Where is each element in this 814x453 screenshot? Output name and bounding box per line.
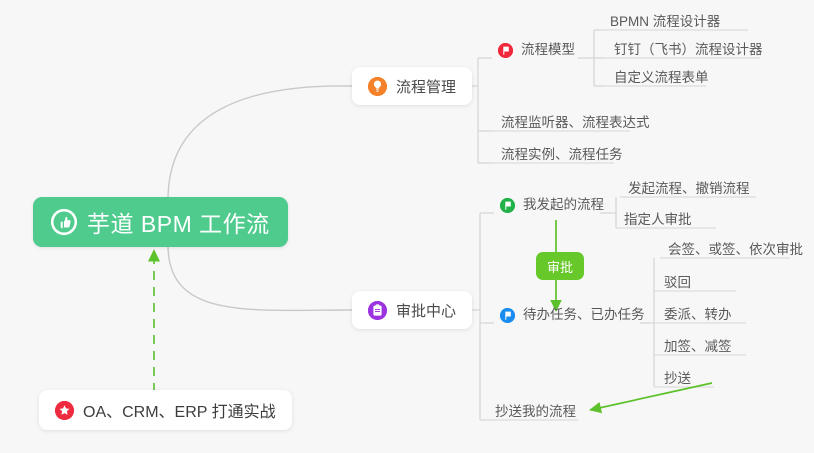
mindmap-canvas: 芋道 BPM 工作流 OA、CRM、ERP 打通实战 流程管理 bbox=[0, 0, 814, 453]
approval-badge[interactable]: 审批 bbox=[536, 252, 584, 280]
wire-root-to-approval-center bbox=[168, 245, 352, 310]
node-bpmn-designer[interactable]: BPMN 流程设计器 bbox=[604, 11, 726, 33]
node-custom-process-form-label: 自定义流程表单 bbox=[614, 66, 709, 86]
branch-process-management-label: 流程管理 bbox=[396, 76, 456, 97]
node-add-remove-sign-label: 加签、减签 bbox=[664, 335, 732, 355]
node-my-started-processes-label: 我发起的流程 bbox=[523, 193, 604, 213]
node-add-remove-sign[interactable]: 加签、减签 bbox=[658, 336, 738, 358]
node-custom-process-form[interactable]: 自定义流程表单 bbox=[608, 67, 715, 89]
node-process-model[interactable]: 流程模型 bbox=[492, 39, 581, 61]
node-delegate-transfer[interactable]: 委派、转办 bbox=[658, 304, 738, 326]
node-dingtalk-feishu-designer-label: 钉钉（飞书）流程设计器 bbox=[614, 38, 763, 58]
node-process-model-label: 流程模型 bbox=[521, 38, 575, 58]
node-instance-task-label: 流程实例、流程任务 bbox=[501, 143, 623, 163]
node-cc-to-me-label: 抄送我的流程 bbox=[495, 400, 576, 420]
approval-badge-label: 审批 bbox=[547, 257, 573, 276]
branch-process-management[interactable]: 流程管理 bbox=[352, 67, 472, 105]
node-my-started-processes[interactable]: 我发起的流程 bbox=[494, 194, 610, 216]
node-reject-label: 驳回 bbox=[664, 271, 691, 291]
node-delegate-transfer-label: 委派、转办 bbox=[664, 303, 732, 323]
lightbulb-icon bbox=[368, 77, 387, 96]
callout-node[interactable]: OA、CRM、ERP 打通实战 bbox=[39, 390, 292, 430]
node-bpmn-designer-label: BPMN 流程设计器 bbox=[610, 10, 720, 30]
node-reject[interactable]: 驳回 bbox=[658, 272, 697, 294]
node-multi-sign-label: 会签、或签、依次审批 bbox=[668, 238, 803, 258]
root-node[interactable]: 芋道 BPM 工作流 bbox=[33, 197, 288, 247]
node-instance-task[interactable]: 流程实例、流程任务 bbox=[495, 144, 629, 166]
callout-label: OA、CRM、ERP 打通实战 bbox=[83, 398, 276, 422]
node-start-cancel-process[interactable]: 发起流程、撤销流程 bbox=[622, 178, 756, 200]
node-todo-done-tasks[interactable]: 待办任务、已办任务 bbox=[494, 304, 651, 326]
flag-icon bbox=[500, 308, 515, 323]
branch-approval-center[interactable]: 审批中心 bbox=[352, 291, 472, 329]
star-icon bbox=[55, 401, 74, 420]
node-listener-expression-label: 流程监听器、流程表达式 bbox=[501, 111, 650, 131]
branch-approval-center-label: 审批中心 bbox=[396, 300, 456, 321]
node-start-cancel-process-label: 发起流程、撤销流程 bbox=[628, 177, 750, 197]
clipboard-icon bbox=[368, 301, 387, 320]
root-label: 芋道 BPM 工作流 bbox=[87, 205, 270, 239]
node-dingtalk-feishu-designer[interactable]: 钉钉（飞书）流程设计器 bbox=[608, 39, 769, 61]
thumbs-up-icon bbox=[51, 209, 77, 235]
flag-icon bbox=[498, 43, 513, 58]
node-cc-label: 抄送 bbox=[664, 367, 691, 387]
node-assignee-approval-label: 指定人审批 bbox=[624, 208, 692, 228]
node-cc[interactable]: 抄送 bbox=[658, 368, 697, 390]
node-assignee-approval[interactable]: 指定人审批 bbox=[618, 209, 698, 231]
node-todo-done-tasks-label: 待办任务、已办任务 bbox=[523, 303, 645, 323]
node-cc-to-me[interactable]: 抄送我的流程 bbox=[489, 401, 582, 423]
node-listener-expression[interactable]: 流程监听器、流程表达式 bbox=[495, 112, 656, 134]
node-multi-sign[interactable]: 会签、或签、依次审批 bbox=[662, 239, 809, 261]
flag-icon bbox=[500, 198, 515, 213]
wire-root-to-process-management bbox=[168, 86, 352, 200]
